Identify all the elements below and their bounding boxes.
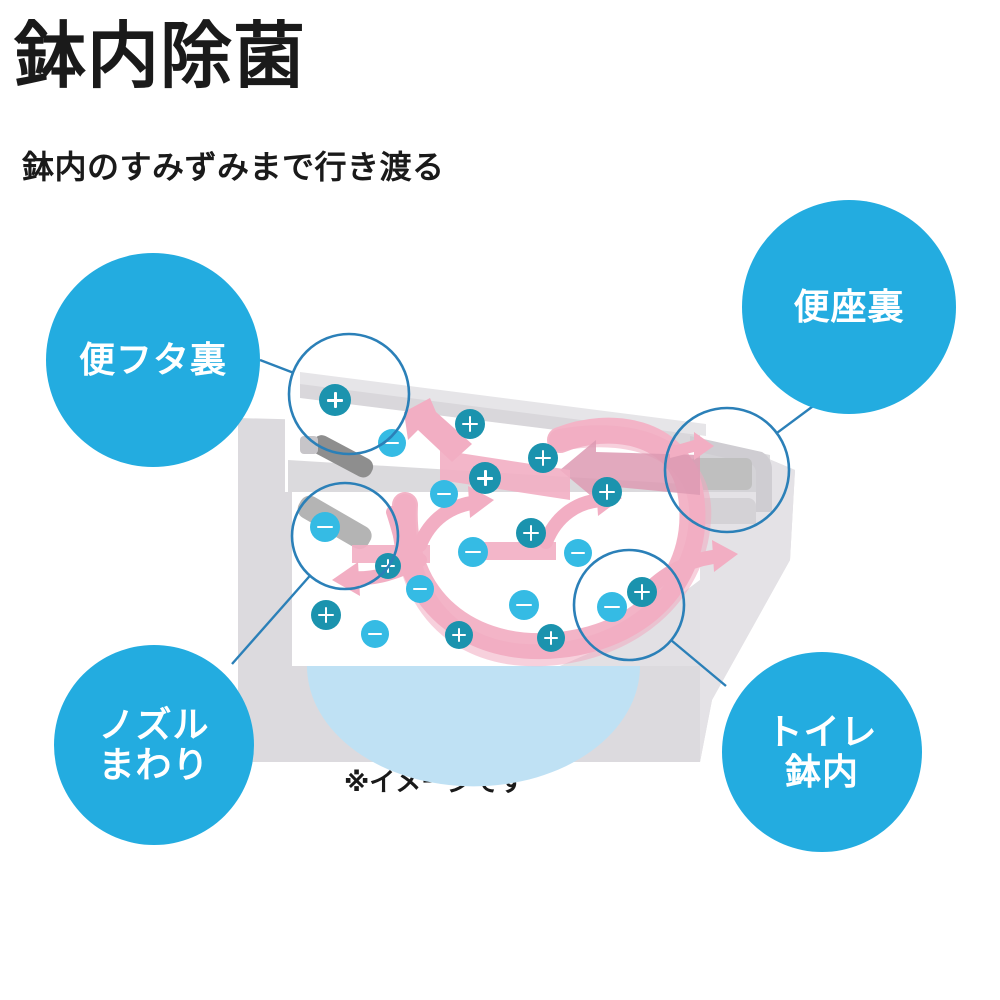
ion-glyph: [319, 384, 351, 416]
plus-ion-icon: [528, 443, 558, 473]
ion-glyph: [597, 592, 627, 622]
callout-bubble-bowl-interior[interactable]: トイレ 鉢内: [722, 652, 922, 852]
ion-glyph: [458, 537, 488, 567]
ion-glyph: [592, 477, 622, 507]
plus-ion-icon: [592, 477, 622, 507]
minus-ion-icon: [378, 429, 406, 457]
callout-bubble-lid-underside[interactable]: 便フタ裏: [46, 253, 260, 467]
ion-glyph: [445, 621, 473, 649]
plus-ion-icon: [319, 384, 351, 416]
callout-bubble-nozzle-surroundings[interactable]: ノズル まわり: [54, 645, 254, 845]
plus-ion-icon: [627, 577, 657, 607]
ion-glyph: [375, 553, 401, 579]
plus-ion-icon: [516, 518, 546, 548]
ion-glyph: [469, 462, 501, 494]
minus-ion-icon: [406, 575, 434, 603]
minus-ion-icon: [597, 592, 627, 622]
ion-glyph: [310, 512, 340, 542]
minus-ion-icon: [564, 539, 592, 567]
plus-ion-icon: [445, 621, 473, 649]
minus-ion-icon: [310, 512, 340, 542]
plus-ion-icon: [455, 409, 485, 439]
minus-ion-icon: [430, 480, 458, 508]
ion-glyph: [564, 539, 592, 567]
minus-ion-icon: [509, 590, 539, 620]
plus-ion-icon: [537, 624, 565, 652]
toilet-illustration: [0, 0, 1000, 1000]
ion-glyph: [361, 620, 389, 648]
ion-glyph: [509, 590, 539, 620]
minus-ion-icon: [458, 537, 488, 567]
ion-glyph: [378, 429, 406, 457]
ion-glyph: [311, 600, 341, 630]
plus-ion-icon: [375, 553, 401, 579]
bowl-water: [307, 666, 640, 786]
minus-ion-icon: [361, 620, 389, 648]
plus-ion-icon: [311, 600, 341, 630]
ion-glyph: [627, 577, 657, 607]
ion-glyph: [516, 518, 546, 548]
ion-glyph: [528, 443, 558, 473]
ion-glyph: [430, 480, 458, 508]
plus-ion-icon: [469, 462, 501, 494]
callout-bubble-seat-underside[interactable]: 便座裏: [742, 200, 956, 414]
ion-glyph: [455, 409, 485, 439]
ion-glyph: [537, 624, 565, 652]
ion-glyph: [406, 575, 434, 603]
illustration-stage: 鉢内除菌 鉢内のすみずみまで行き渡る ※イメージです 便フタ裏 便座裏 ノズル …: [0, 0, 1000, 1000]
